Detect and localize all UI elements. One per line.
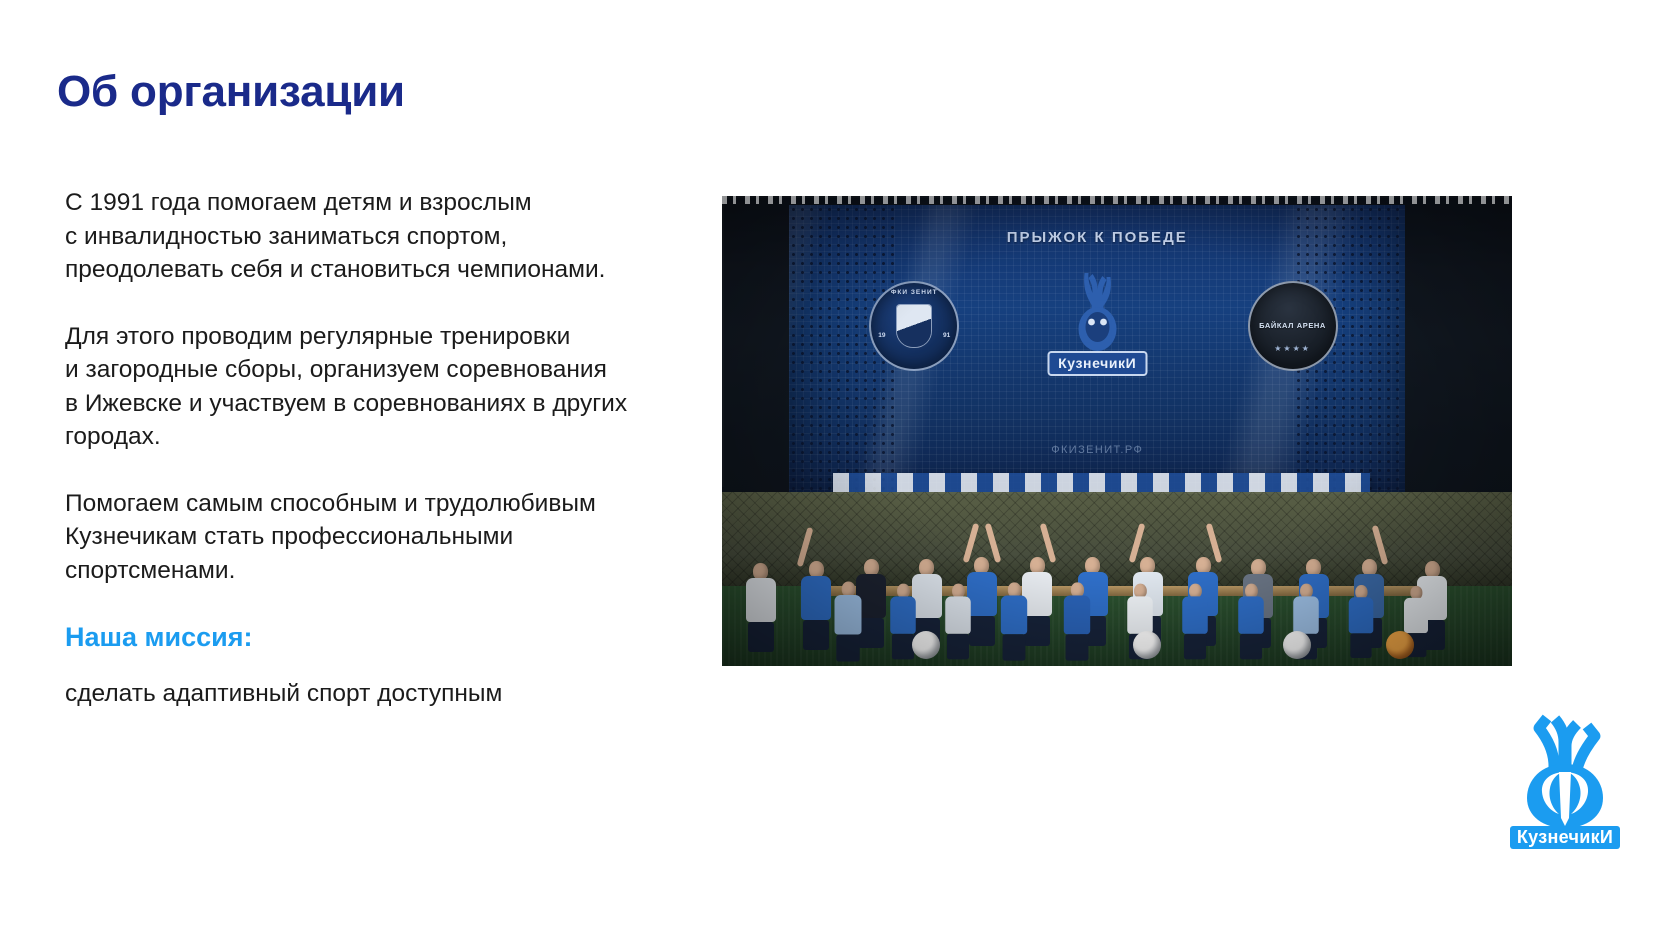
soccer-ball [1133, 631, 1161, 659]
brand-wordmark: КузнечикИ [1510, 826, 1620, 849]
soccer-ball-orange [1386, 631, 1414, 659]
grasshopper-icon [1066, 269, 1128, 355]
slide: Об организации С 1991 года помогаем детя… [0, 0, 1680, 944]
mission-heading: Наша миссия: [65, 620, 705, 654]
team-photo-image: ПРЫЖОК К ПОБЕДЕ ФКИ ЗЕНИТ 19 91 [722, 196, 1512, 666]
paragraph-3-line-3: спортсменами. [65, 554, 705, 588]
person [801, 561, 831, 650]
fki-zenit-crest-years: 19 91 [878, 332, 950, 339]
paragraph-2-line-3: в Ижевске и участвуем в соревнованиях в … [65, 387, 705, 421]
paragraph-1-line-3: преодолевать себя и становиться чемпиона… [65, 253, 705, 287]
soccer-ball [1283, 631, 1311, 659]
person [1238, 584, 1264, 660]
body-text-column: С 1991 года помогаем детям и взрослым с … [65, 186, 705, 711]
paragraph-2: Для этого проводим регулярные тренировки… [65, 320, 705, 454]
person [967, 557, 997, 646]
person [1000, 582, 1026, 660]
page-title: Об организации [57, 68, 405, 116]
banner-slogan: ПРЫЖОК К ПОБЕДЕ [789, 229, 1405, 246]
team-group [722, 440, 1512, 666]
person [945, 584, 971, 660]
paragraph-2-line-1: Для этого проводим регулярные тренировки [65, 320, 705, 354]
baikal-arena-label: БАЙКАЛ АРЕНА [1259, 321, 1326, 331]
baikal-arena-stars: ★★★★ [1250, 344, 1336, 353]
brand-logo: КузнечикИ [1490, 712, 1640, 849]
paragraph-1: С 1991 года помогаем детям и взрослым с … [65, 186, 705, 287]
banner-kuznechiki-logo: КузнечикИ [1030, 269, 1165, 376]
paragraph-1-line-2: с инвалидностью заниматься спортом, [65, 220, 705, 254]
shield-icon [897, 305, 931, 347]
paragraph-3-line-2: Кузнечикам стать профессиональными [65, 520, 705, 554]
team-photo: ПРЫЖОК К ПОБЕДЕ ФКИ ЗЕНИТ 19 91 [722, 196, 1512, 666]
person [834, 581, 861, 661]
crest-year-left: 19 [878, 332, 885, 339]
mission-text: сделать адаптивный спорт доступным [65, 677, 705, 711]
crest-year-right: 91 [943, 332, 950, 339]
grasshopper-icon [1519, 712, 1611, 830]
paragraph-3: Помогаем самым способным и трудолюбивым … [65, 487, 705, 588]
paragraph-3-line-1: Помогаем самым способным и трудолюбивым [65, 487, 705, 521]
person [1182, 584, 1208, 660]
person [1349, 585, 1374, 658]
paragraph-2-line-2: и загородные сборы, организуем соревнова… [65, 353, 705, 387]
banner-wordmark: КузнечикИ [1047, 351, 1147, 376]
person [746, 563, 776, 652]
paragraph-1-line-1: С 1991 года помогаем детям и взрослым [65, 186, 705, 220]
fki-zenit-crest: ФКИ ЗЕНИТ 19 91 [869, 281, 959, 371]
paragraph-2-line-4: городах. [65, 420, 705, 454]
baikal-arena-crest: БАЙКАЛ АРЕНА ★★★★ [1248, 281, 1338, 371]
soccer-ball [912, 631, 940, 659]
fki-zenit-crest-top-text: ФКИ ЗЕНИТ [871, 289, 957, 296]
person [1063, 582, 1089, 660]
